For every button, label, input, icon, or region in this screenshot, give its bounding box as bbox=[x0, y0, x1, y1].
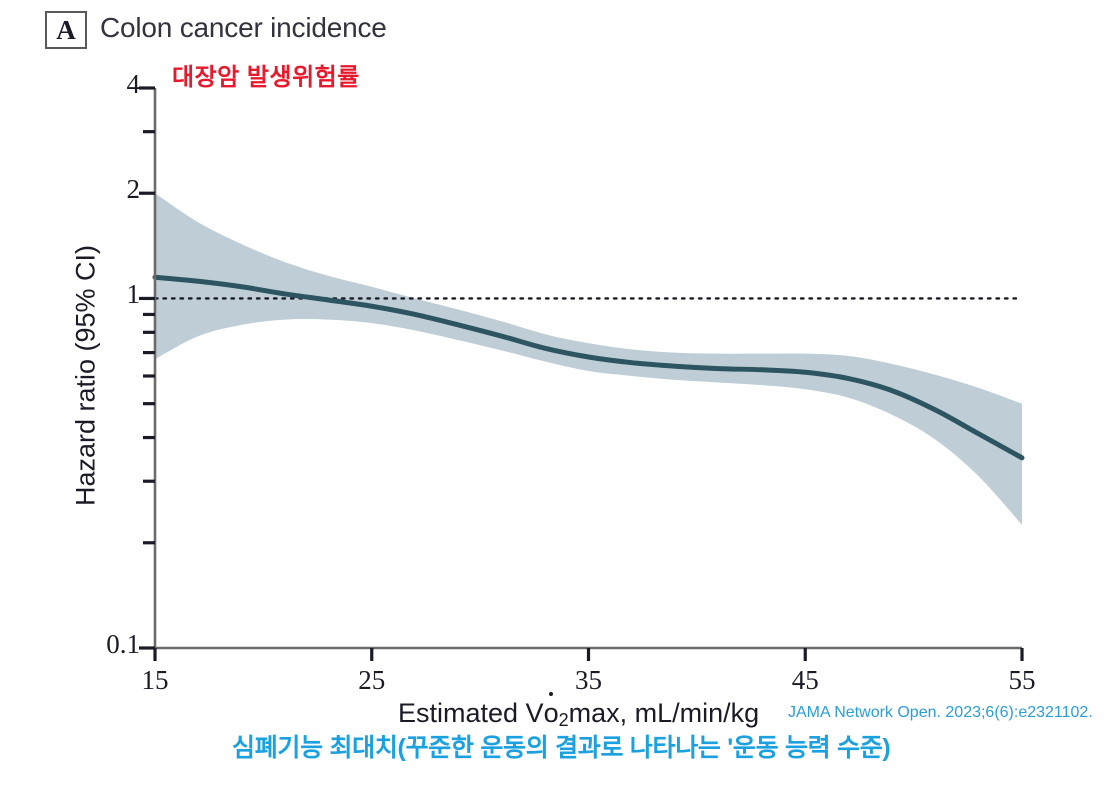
x-axis-title-pre: Estimated V bbox=[398, 698, 544, 728]
figure-panel: A Colon cancer incidence 대장암 발생위험률 4210.… bbox=[0, 0, 1110, 798]
y-tick-label: 2 bbox=[55, 174, 140, 205]
y-tick-label: 4 bbox=[55, 69, 140, 100]
journal-citation: JAMA Network Open. 2023;6(6):e2321102. bbox=[788, 704, 1093, 722]
x-tick-label: 25 bbox=[332, 665, 412, 696]
y-axis-title: Hazard ratio (95% CI) bbox=[71, 226, 102, 526]
x-axis-title-subscript: 2 bbox=[559, 710, 569, 730]
x-tick-label: 15 bbox=[115, 665, 195, 696]
x-tick-label: 55 bbox=[982, 665, 1062, 696]
v-dot-icon: o bbox=[544, 698, 559, 729]
y-tick-label: 0.1 bbox=[55, 629, 140, 660]
korean-xaxis-annotation: 심폐기능 최대치(꾸준한 운동의 결과로 나타나는 '운동 능력 수준) bbox=[232, 728, 890, 764]
x-axis-title-post: max, mL/min/kg bbox=[569, 698, 760, 728]
x-axis-title: Estimated Vo2max, mL/min/kg bbox=[398, 698, 759, 731]
x-tick-label: 35 bbox=[549, 665, 629, 696]
x-tick-label: 45 bbox=[765, 665, 845, 696]
